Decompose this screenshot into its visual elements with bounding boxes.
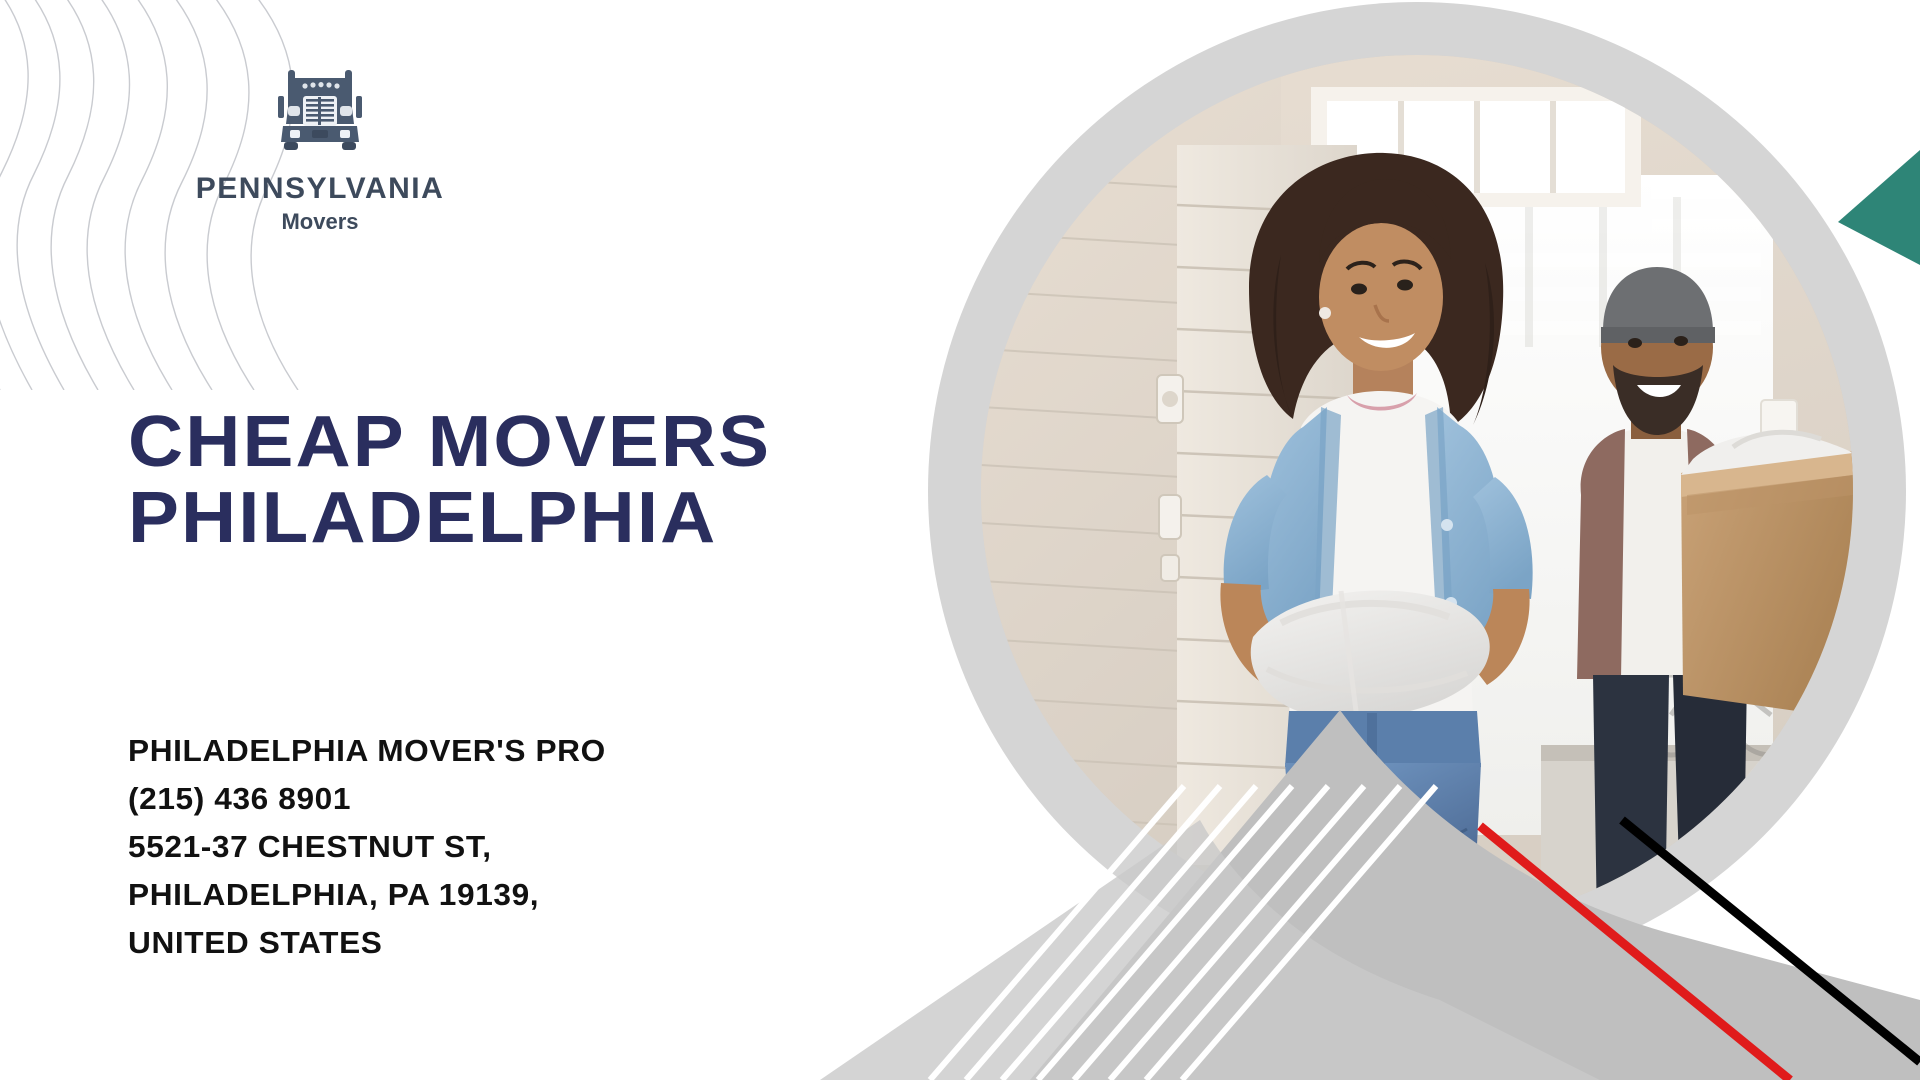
address-country: United States [128, 919, 781, 967]
business-name: Philadelphia Mover's Pro [128, 727, 781, 775]
flyer-canvas: PENNSYLVANIA Movers Cheap Movers Philade… [0, 0, 1920, 1080]
brand-name: PENNSYLVANIA [190, 174, 450, 204]
brand-subtitle: Movers [190, 211, 450, 233]
semi-truck-front-icon [266, 62, 374, 170]
headline-line-2: Philadelphia [128, 481, 785, 557]
movers-couple-photo [981, 55, 1853, 927]
brand-logo: PENNSYLVANIA Movers [190, 62, 450, 233]
address-line-2: Philadelphia, PA 19139, [128, 871, 781, 919]
headline-line-1: Cheap Movers [128, 405, 785, 481]
photo-circle-frame [928, 2, 1906, 980]
contact-block: Philadelphia Mover's Pro (215) 436 8901 … [128, 727, 781, 967]
address-line-1: 5521-37 Chestnut St, [128, 823, 781, 871]
phone-number[interactable]: (215) 436 8901 [128, 775, 781, 823]
page-title: Cheap Movers Philadelphia [128, 405, 785, 556]
